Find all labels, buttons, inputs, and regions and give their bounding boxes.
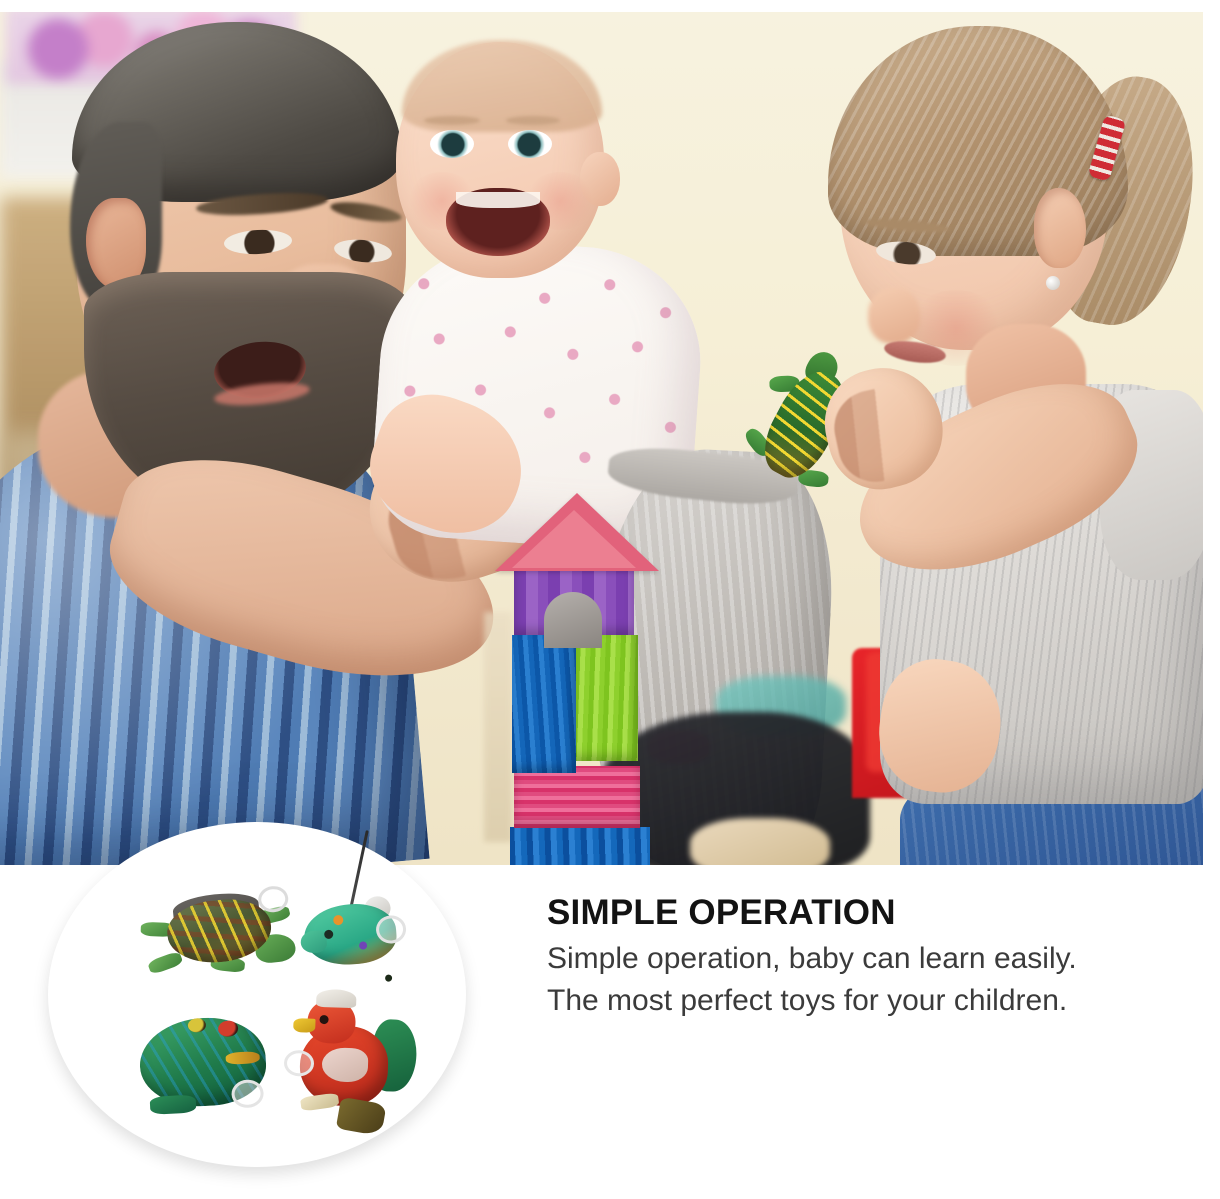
baby-eyebrow-right (506, 116, 560, 125)
floor-beige-object (690, 818, 830, 865)
product-inset-circle (48, 822, 466, 1167)
block-backdrop (484, 612, 512, 842)
baby-teeth (456, 192, 540, 208)
caption-body: Simple operation, baby can learn easily.… (547, 938, 1107, 1022)
hero-photo (0, 12, 1203, 865)
block-pink-striped (514, 766, 640, 828)
rooster-comb (316, 989, 357, 1008)
inset-toy-wind-up-tin-frog (131, 1006, 277, 1123)
baby-eye-left (430, 130, 474, 158)
caption-heading: SIMPLE OPERATION (547, 893, 1107, 933)
rooster-beak (293, 1018, 315, 1033)
girl-earring (1046, 276, 1060, 290)
rooster-foot (300, 1092, 340, 1111)
caption-block: SIMPLE OPERATION Simple operation, baby … (547, 893, 1107, 1022)
frog-foot (150, 1094, 197, 1114)
wind-up-key-icon (231, 1079, 264, 1109)
block-arch-opening (544, 592, 602, 648)
block-blue-left (512, 635, 576, 773)
rooster-legs (336, 1097, 387, 1137)
block-pink-roof-highlight (512, 510, 636, 568)
inset-toy-wind-up-tin-mouse (297, 876, 414, 983)
inset-toy-wind-up-tin-rooster (281, 988, 416, 1142)
inset-toy-wind-up-tin-turtle (146, 887, 294, 989)
girl-ear (1034, 188, 1086, 268)
block-blue-base (510, 827, 650, 865)
baby-eyebrow-left (424, 116, 480, 125)
turtle-leg-2 (147, 950, 184, 975)
baby-eye-right (508, 130, 552, 158)
block-green-right (576, 635, 638, 761)
